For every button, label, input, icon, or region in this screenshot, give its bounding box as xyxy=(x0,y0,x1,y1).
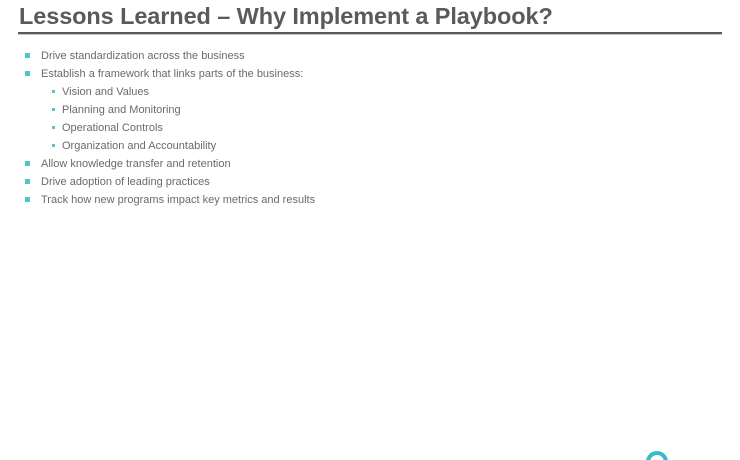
list-item-label: Establish a framework that links parts o… xyxy=(41,65,303,83)
square-bullet-icon xyxy=(25,179,30,184)
list-item: Operational Controls xyxy=(0,119,740,137)
square-bullet-icon xyxy=(25,71,30,76)
dot-bullet-icon xyxy=(52,144,55,147)
list-item-label: Track how new programs impact key metric… xyxy=(41,191,315,209)
dot-bullet-icon xyxy=(52,108,55,111)
title-divider-shadow xyxy=(18,34,722,35)
list-item: Allow knowledge transfer and retention xyxy=(0,155,740,173)
square-bullet-icon xyxy=(25,197,30,202)
list-item-label: Allow knowledge transfer and retention xyxy=(41,155,231,173)
dot-bullet-icon xyxy=(52,90,55,93)
list-item: Planning and Monitoring xyxy=(0,101,740,119)
list-item-label: Operational Controls xyxy=(62,119,163,137)
list-item: Track how new programs impact key metric… xyxy=(0,191,740,209)
presentation-slide: Lessons Learned – Why Implement a Playbo… xyxy=(0,0,740,460)
logo-arc-shape xyxy=(646,451,668,460)
square-bullet-icon xyxy=(25,53,30,58)
list-item-label: Drive standardization across the busines… xyxy=(41,47,245,65)
square-bullet-icon xyxy=(25,161,30,166)
list-item-label: Vision and Values xyxy=(62,83,149,101)
list-item: Vision and Values xyxy=(0,83,740,101)
list-item-label: Planning and Monitoring xyxy=(62,101,181,119)
list-item: Drive standardization across the busines… xyxy=(0,47,740,65)
corner-logo-mark xyxy=(646,450,670,460)
list-item: Establish a framework that links parts o… xyxy=(0,65,740,83)
list-item: Organization and Accountability xyxy=(0,137,740,155)
dot-bullet-icon xyxy=(52,126,55,129)
page-title: Lessons Learned – Why Implement a Playbo… xyxy=(19,2,725,31)
list-item: Drive adoption of leading practices xyxy=(0,173,740,191)
list-item-label: Drive adoption of leading practices xyxy=(41,173,210,191)
list-item-label: Organization and Accountability xyxy=(62,137,216,155)
bullet-list: Drive standardization across the busines… xyxy=(0,47,740,209)
